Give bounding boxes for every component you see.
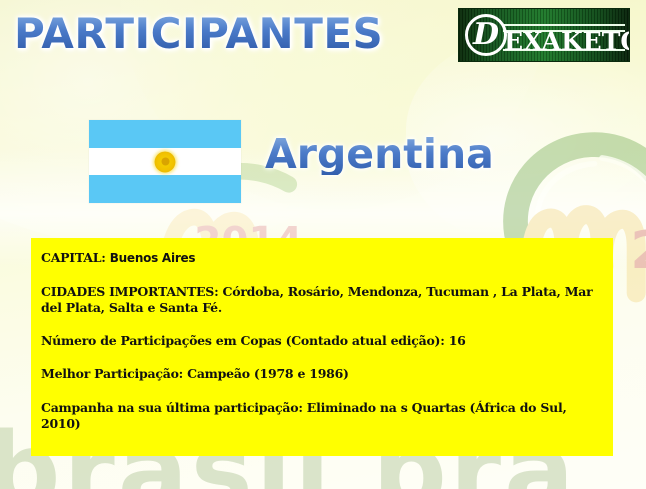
info-row-last-campaign: Campanha na sua última participação: Eli… [41, 400, 605, 432]
capital-value: Buenos Aires [110, 251, 196, 265]
info-row-best-result: Melhor Participação: Campeão (1978 e 198… [41, 366, 605, 382]
logo-rule-top [503, 24, 625, 26]
info-row-participations: Número de Participações em Copas (Contad… [41, 333, 605, 349]
flag-stripe-top [89, 120, 241, 148]
info-row-cities: CIDADES IMPORTANTES: Córdoba, Rosário, M… [41, 284, 605, 316]
presentation-slide: brasil bra 2 2014 PARTICIPANTES [0, 0, 646, 489]
info-row-capital: CAPITAL: Buenos Aires [41, 250, 605, 266]
cities-label: CIDADES IMPORTANTES: [41, 284, 218, 299]
logo-monogram-icon: D [465, 14, 507, 56]
country-info-box: CAPITAL: Buenos Aires CIDADES IMPORTANTE… [31, 238, 613, 456]
logo-wordmark: EXAKETO [504, 29, 630, 54]
svg-text:2: 2 [631, 221, 646, 281]
country-name: Argentina [265, 134, 494, 175]
sun-of-may-icon [155, 151, 176, 172]
flag-stripe-bottom [89, 175, 241, 203]
capital-label: CAPITAL: [41, 250, 106, 265]
dexaketo-logo[interactable]: D EXAKETO [458, 8, 630, 62]
argentina-flag [89, 120, 241, 203]
page-title: PARTICIPANTES [14, 13, 383, 55]
flag-stripe-middle [89, 148, 241, 176]
